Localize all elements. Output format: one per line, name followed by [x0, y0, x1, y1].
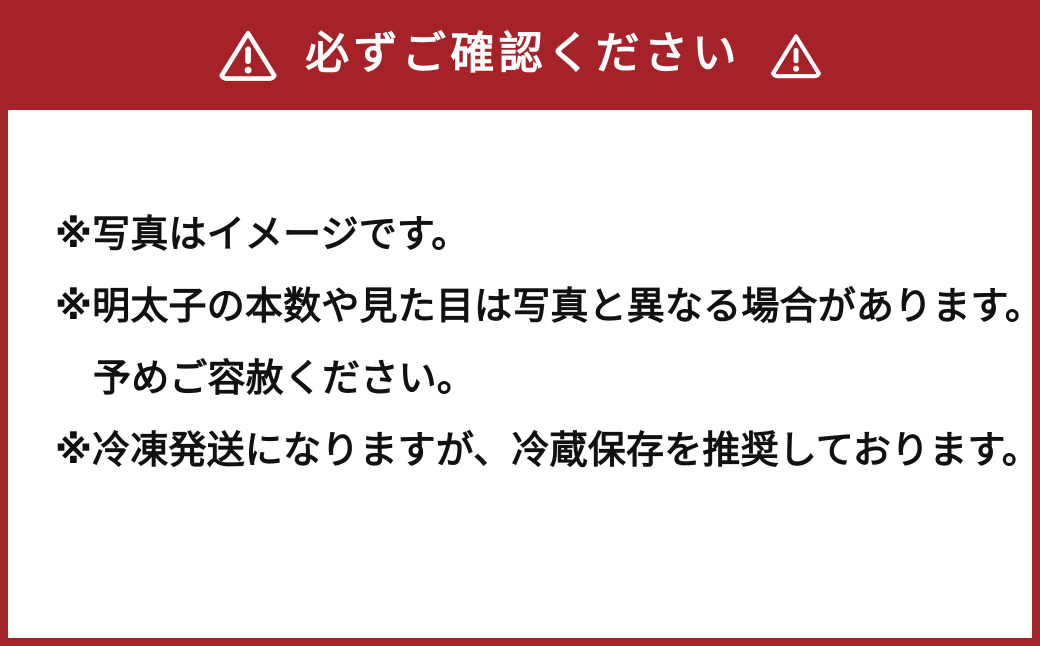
notice-line: 予めご容赦ください。: [55, 360, 1020, 432]
notice-line: ※明太子の本数や見た目は写真と異なる場合があります。: [55, 288, 1020, 360]
notice-card: 必ずご確認ください ※写真はイメージです。 ※明太子の本数や見た目は写真と異なる…: [0, 0, 1040, 646]
warning-triangle-icon: [769, 31, 823, 80]
notice-body: ※写真はイメージです。 ※明太子の本数や見た目は写真と異なる場合があります。 予…: [0, 110, 1040, 646]
notice-line: ※冷凍発送になりますが、冷蔵保存を推奨しております。: [55, 432, 1020, 504]
warning-triangle-icon: [217, 27, 279, 83]
notice-header-banner: 必ずご確認ください: [0, 0, 1040, 110]
notice-line: ※写真はイメージです。: [55, 216, 1020, 288]
page-title: 必ずご確認ください: [305, 32, 741, 79]
notice-text-block: ※写真はイメージです。 ※明太子の本数や見た目は写真と異なる場合があります。 予…: [55, 216, 1020, 504]
